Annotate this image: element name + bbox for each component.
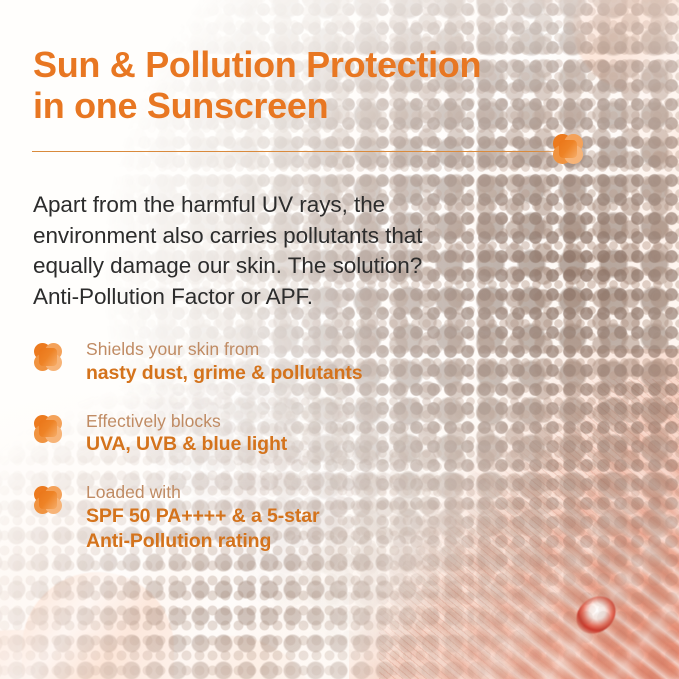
list-item-label: Loaded with (86, 481, 503, 504)
body-paragraph-line-4: Anti-Pollution Factor or APF. (33, 282, 553, 313)
body-paragraph-line-1: Apart from the harmful UV rays, the (33, 190, 553, 221)
benefits-list: Shields your skin from nasty dust, grime… (33, 338, 503, 577)
list-item-value-line-1: SPF 50 PA++++ & a 5-star (86, 504, 503, 529)
list-item: Loaded with SPF 50 PA++++ & a 5-star Ant… (33, 481, 503, 553)
title-divider (32, 151, 572, 152)
quatrefoil-icon (553, 134, 583, 164)
infographic-card: Sun & Pollution Protection in one Sunscr… (0, 0, 679, 679)
quatrefoil-icon (34, 343, 62, 371)
list-item-label: Shields your skin from (86, 338, 503, 361)
body-paragraph: Apart from the harmful UV rays, the envi… (33, 190, 553, 312)
quatrefoil-icon (34, 415, 62, 443)
quatrefoil-icon (34, 486, 62, 514)
list-item-label: Effectively blocks (86, 410, 503, 433)
list-item: Shields your skin from nasty dust, grime… (33, 338, 503, 386)
list-item-value: nasty dust, grime & pollutants (86, 361, 503, 386)
page-title-line-2: in one Sunscreen (33, 85, 593, 126)
list-item-value: UVA, UVB & blue light (86, 432, 503, 457)
list-item: Effectively blocks UVA, UVB & blue light (33, 410, 503, 458)
body-paragraph-line-3: equally damage our skin. The solution? (33, 251, 553, 282)
page-title: Sun & Pollution Protection in one Sunscr… (33, 44, 593, 127)
page-title-line-1: Sun & Pollution Protection (33, 44, 593, 85)
list-item-value-line-2: Anti-Pollution rating (86, 529, 503, 554)
content-layer: Sun & Pollution Protection in one Sunscr… (0, 0, 679, 679)
body-paragraph-line-2: environment also carries pollutants that (33, 221, 553, 252)
